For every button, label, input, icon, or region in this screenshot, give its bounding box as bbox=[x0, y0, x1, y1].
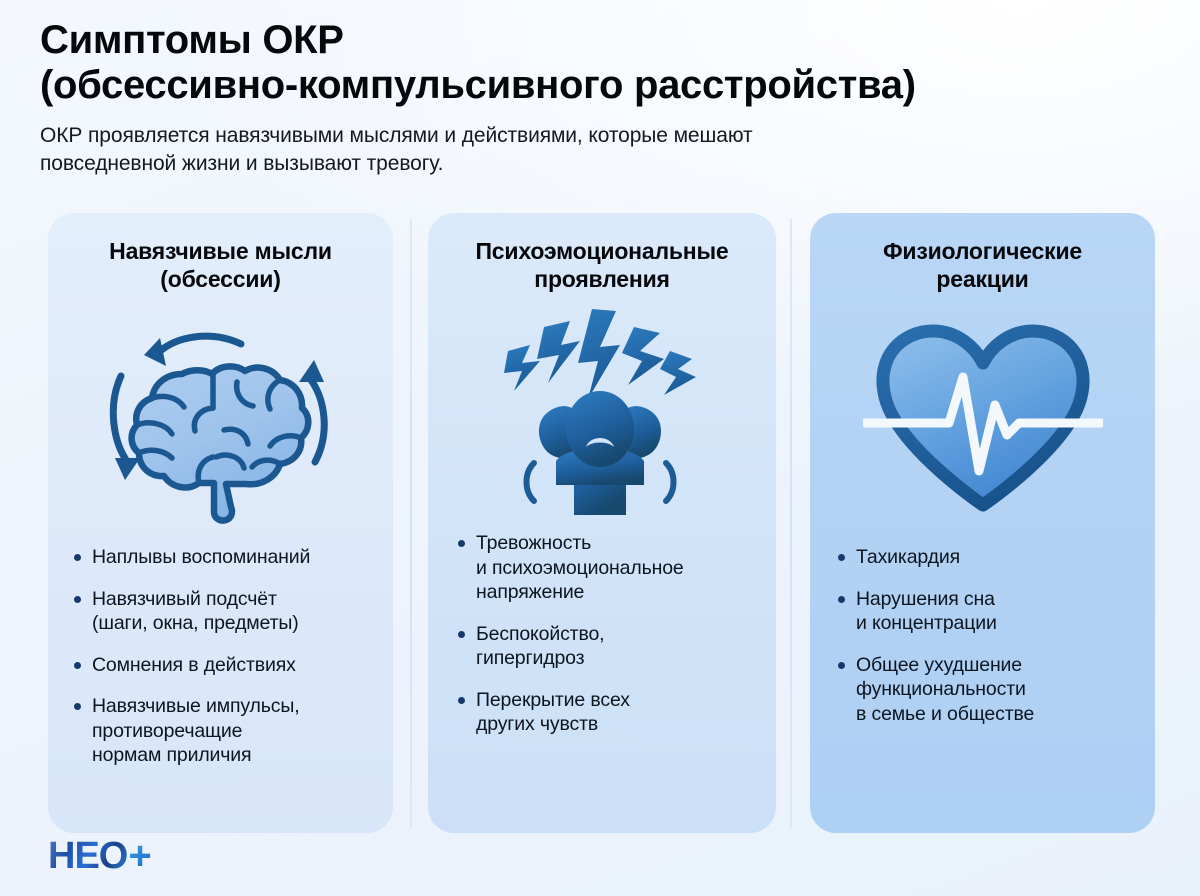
list-item: Перекрытие всех других чувств bbox=[456, 688, 758, 737]
bullet-list-obsessive-thoughts: Наплывы воспоминаний Навязчивый подсчёт … bbox=[48, 545, 393, 768]
bullet-list-physiological: Тахикардия Нарушения сна и концентрации … bbox=[810, 545, 1155, 726]
card-title-physiological: Физиологические реакции bbox=[810, 213, 1155, 293]
page-subtitle: ОКР проявляется навязчивыми мыслями и де… bbox=[40, 122, 1090, 178]
list-item: Тревожность и психоэмоциональное напряже… bbox=[456, 531, 758, 605]
list-item: Нарушения сна и концентрации bbox=[836, 587, 1137, 636]
header: Симптомы ОКР (обсессивно-компульсивного … bbox=[40, 18, 1170, 177]
list-item: Сомнения в действиях bbox=[72, 653, 375, 678]
bullet-list-psychoemotional: Тревожность и психоэмоциональное напряже… bbox=[428, 531, 776, 737]
list-item: Общее ухудшение функциональности в семье… bbox=[836, 653, 1137, 727]
page-title: Симптомы ОКР (обсессивно-компульсивного … bbox=[40, 18, 1170, 108]
card-title-psychoemotional: Психоэмоциональные проявления bbox=[428, 213, 776, 293]
card-psychoemotional: Психоэмоциональные проявления bbox=[428, 213, 776, 833]
list-item: Тахикардия bbox=[836, 545, 1137, 570]
list-item: Наплывы воспоминаний bbox=[72, 545, 375, 570]
logo-plus-icon: + bbox=[128, 836, 151, 876]
list-item: Навязчивый подсчёт (шаги, окна, предметы… bbox=[72, 587, 375, 636]
brain-cycle-icon bbox=[48, 293, 393, 545]
card-obsessive-thoughts: Навязчивые мысли (обсессии) bbox=[48, 213, 393, 833]
logo-wordmark: НЕО bbox=[48, 837, 127, 875]
card-title-obsessive-thoughts: Навязчивые мысли (обсессии) bbox=[48, 213, 393, 293]
heart-pulse-icon bbox=[810, 293, 1155, 545]
list-item: Беспокойство, гипергидроз bbox=[456, 622, 758, 671]
card-physiological: Физиологические реакции bbox=[810, 213, 1155, 833]
stressed-person-icon bbox=[428, 293, 776, 531]
cards-row: Навязчивые мысли (обсессии) bbox=[0, 213, 1200, 833]
infographic-page: Симптомы ОКР (обсессивно-компульсивного … bbox=[0, 0, 1200, 896]
card-divider-2 bbox=[790, 219, 792, 829]
brand-logo: НЕО + bbox=[48, 834, 152, 878]
list-item: Навязчивые импульсы, противоречащие норм… bbox=[72, 694, 375, 768]
card-divider-1 bbox=[410, 219, 412, 829]
